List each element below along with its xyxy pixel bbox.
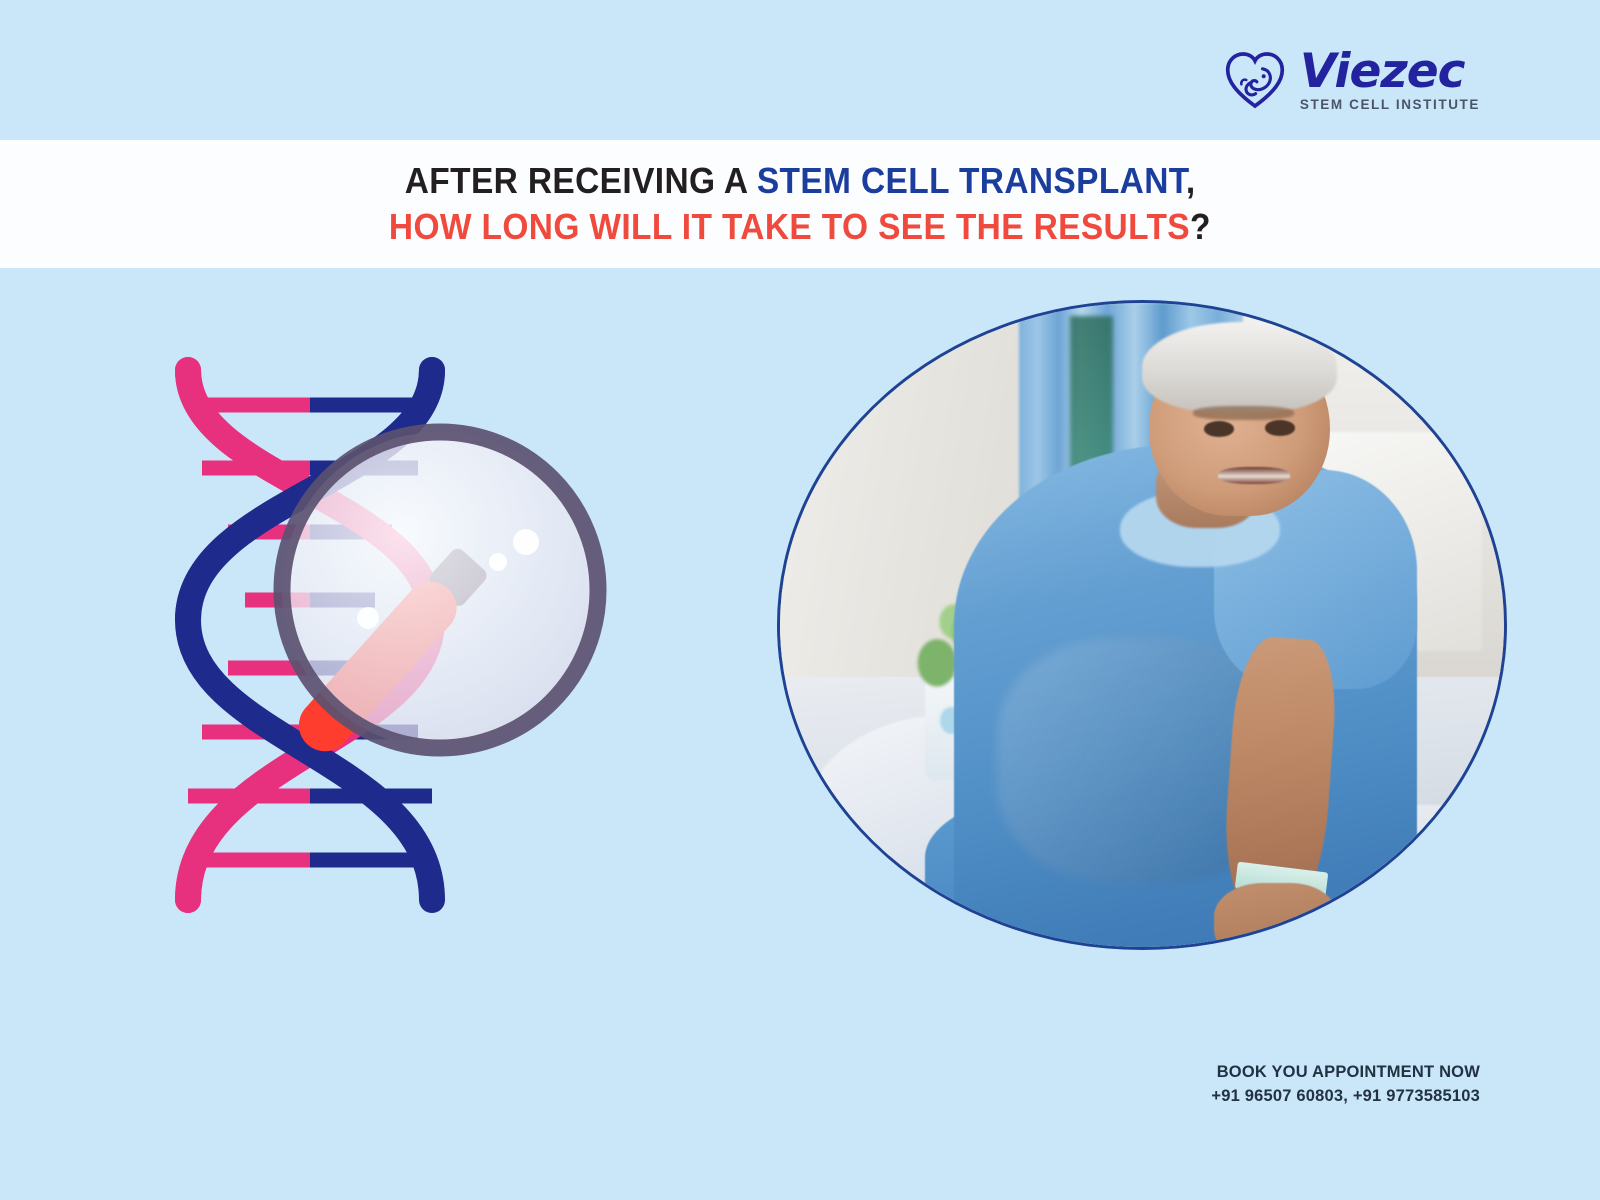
photo-patient-eye-right: [1265, 420, 1295, 435]
photo-patient-eye-left: [1204, 421, 1234, 436]
heart-embryo-icon: [1224, 49, 1286, 111]
brand-tagline: STEM CELL INSTITUTE: [1300, 98, 1480, 112]
photo-patient-brow: [1193, 406, 1294, 420]
brand-logo[interactable]: Viezec STEM CELL INSTITUTE: [1224, 48, 1480, 112]
elderly-patient-hospital-photo: [777, 300, 1507, 950]
headline-line-2: HOW LONG WILL IT TAKE TO SEE THE RESULTS…: [389, 206, 1211, 248]
headline-line1-highlight: STEM CELL TRANSPLANT: [757, 160, 1186, 201]
photo-patient-hand: [1214, 883, 1337, 950]
appointment-cta: BOOK YOU APPOINTMENT NOW +91 96507 60803…: [1211, 1063, 1480, 1106]
header-band: Viezec STEM CELL INSTITUTE: [0, 0, 1600, 140]
headline-line-1: AFTER RECEIVING A STEM CELL TRANSPLANT,: [405, 160, 1196, 202]
photo-scene: [780, 303, 1504, 947]
magnifying-glass-icon: [282, 432, 598, 762]
brand-name: Viezec: [1300, 48, 1480, 95]
dna-magnifier-illustration: [150, 300, 750, 980]
photo-patient-hair: [1142, 322, 1337, 412]
cta-heading: BOOK YOU APPOINTMENT NOW: [1211, 1063, 1480, 1082]
headline-line1-lead: AFTER RECEIVING A: [405, 160, 757, 201]
poster-canvas: Viezec STEM CELL INSTITUTE AFTER RECEIVI…: [0, 0, 1600, 1200]
headline-line2-question-mark: ?: [1190, 206, 1211, 247]
headline-line2-text: HOW LONG WILL IT TAKE TO SEE THE RESULTS: [389, 206, 1190, 247]
photo-patient-mouth: [1218, 467, 1290, 484]
headline-line1-comma: ,: [1186, 160, 1196, 201]
cta-phone-numbers[interactable]: +91 96507 60803, +91 9773585103: [1211, 1087, 1480, 1106]
headline-band: AFTER RECEIVING A STEM CELL TRANSPLANT, …: [0, 140, 1600, 268]
